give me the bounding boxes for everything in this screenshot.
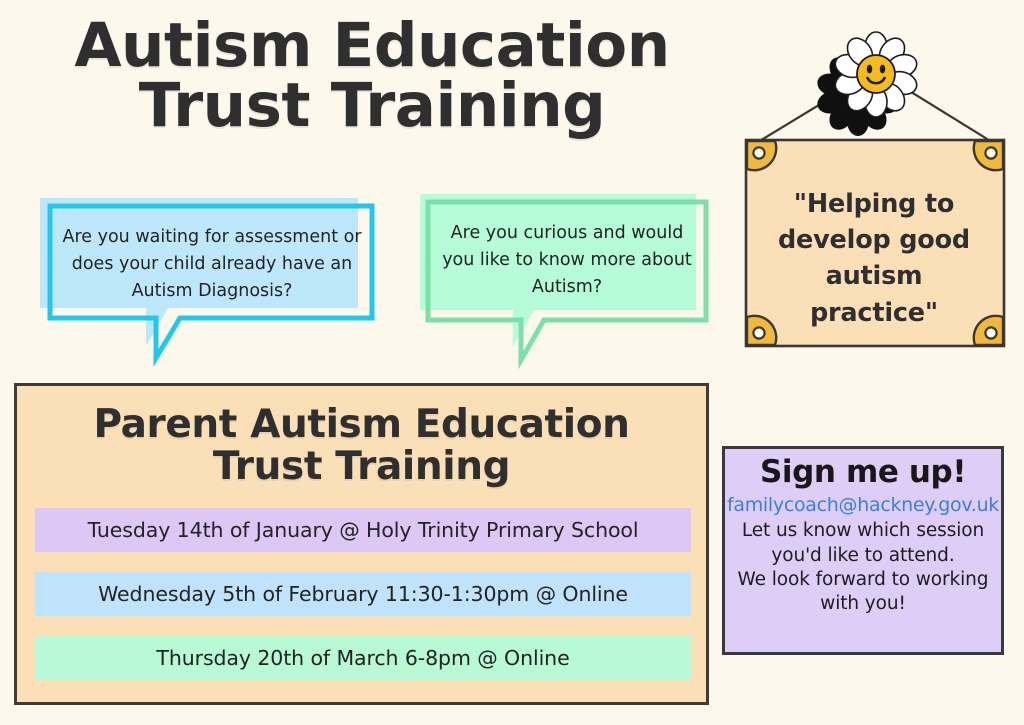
signup-box: Sign me up! familycoach@hackney.gov.uk L… [722,446,1004,655]
speech-bubble-curious-text: Are you curious and would you like to kn… [436,220,698,300]
signup-email-link[interactable]: familycoach@hackney.gov.uk [725,493,1001,517]
session-row-text: Thursday 20th of March 6-8pm @ Online [156,646,569,670]
sessions-heading: Parent Autism Education Trust Training [17,404,706,487]
signup-title: Sign me up! [725,455,1001,489]
session-row: Tuesday 14th of January @ Holy Trinity P… [35,508,691,552]
poster-canvas: Autism Education Trust Training Are you … [0,0,1024,725]
speech-bubble-assessment-text: Are you waiting for assessment or does y… [60,224,364,304]
session-row: Thursday 20th of March 6-8pm @ Online [35,636,691,680]
session-row: Wednesday 5th of February 11:30-1:30pm @… [35,572,691,616]
session-row-text: Wednesday 5th of February 11:30-1:30pm @… [98,582,628,606]
speech-bubble-curious: Are you curious and would you like to kn… [418,192,718,364]
speech-bubble-assessment: Are you waiting for assessment or does y… [38,196,388,368]
sessions-panel: Parent Autism Education Trust Training T… [14,383,709,705]
daisy-smiley-flower-icon [814,32,919,136]
signup-note: Let us know which session you'd like to … [725,519,1001,616]
page-title: Autism Education Trust Training [22,16,722,137]
session-row-text: Tuesday 14th of January @ Holy Trinity P… [88,518,639,542]
hanging-sign-quote: "Helping to develop good autism practice… [762,186,986,331]
